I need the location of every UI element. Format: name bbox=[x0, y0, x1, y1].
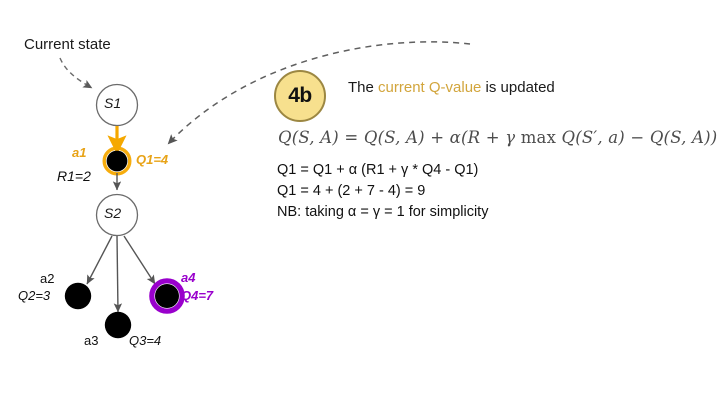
current-state-label: Current state bbox=[24, 36, 111, 53]
qvalue-label-q4: Q4=7 bbox=[181, 288, 213, 303]
state-label-s1: S1 bbox=[104, 95, 121, 111]
action-label-a2: a2 bbox=[40, 271, 54, 286]
action-node-a4 bbox=[155, 284, 179, 308]
state-label-s2: S2 bbox=[104, 205, 121, 221]
action-node-a1 bbox=[107, 151, 128, 172]
formula-part-max: max bbox=[521, 128, 556, 147]
formula-part-1: Q(S, A) = Q(S, A) + α(R + γ bbox=[278, 128, 521, 147]
qvalue-label-q1: Q1=4 bbox=[136, 152, 168, 167]
edge-s2-to-a2 bbox=[87, 236, 112, 284]
calc-line: Q1 = 4 + (2 + 7 - 4) = 9 bbox=[277, 181, 488, 202]
qvalue-label-q3: Q3=4 bbox=[129, 333, 161, 348]
action-node-a2 bbox=[65, 283, 91, 309]
action-node-a3 bbox=[105, 312, 131, 338]
step-caption: The current Q-value is updated bbox=[348, 79, 555, 96]
q-learning-formula: Q(S, A) = Q(S, A) + α(R + γ max Q(S′, a)… bbox=[278, 128, 717, 147]
caption-prefix: The bbox=[348, 79, 378, 96]
caption-highlight: current Q-value bbox=[378, 79, 481, 96]
current-state-pointer-arrow bbox=[60, 58, 92, 88]
calc-line: NB: taking α = γ = 1 for simplicity bbox=[277, 202, 488, 223]
reward-label-r1: R1=2 bbox=[57, 168, 91, 184]
action-label-a4: a4 bbox=[181, 270, 195, 285]
action-label-a3: a3 bbox=[84, 333, 98, 348]
edge-s2-to-a4 bbox=[124, 236, 155, 284]
caption-suffix: is updated bbox=[481, 79, 554, 96]
formula-part-3: Q(S′, a) − Q(S, A)) bbox=[556, 128, 717, 147]
qvalue-label-q2: Q2=3 bbox=[18, 288, 50, 303]
action-label-a1: a1 bbox=[72, 145, 86, 160]
calc-line: Q1 = Q1 + α (R1 + γ * Q4 - Q1) bbox=[277, 160, 488, 181]
step-badge: 4b bbox=[274, 70, 326, 122]
calculation-lines: Q1 = Q1 + α (R1 + γ * Q4 - Q1) Q1 = 4 + … bbox=[277, 160, 488, 223]
edge-s2-to-a3 bbox=[117, 236, 118, 312]
